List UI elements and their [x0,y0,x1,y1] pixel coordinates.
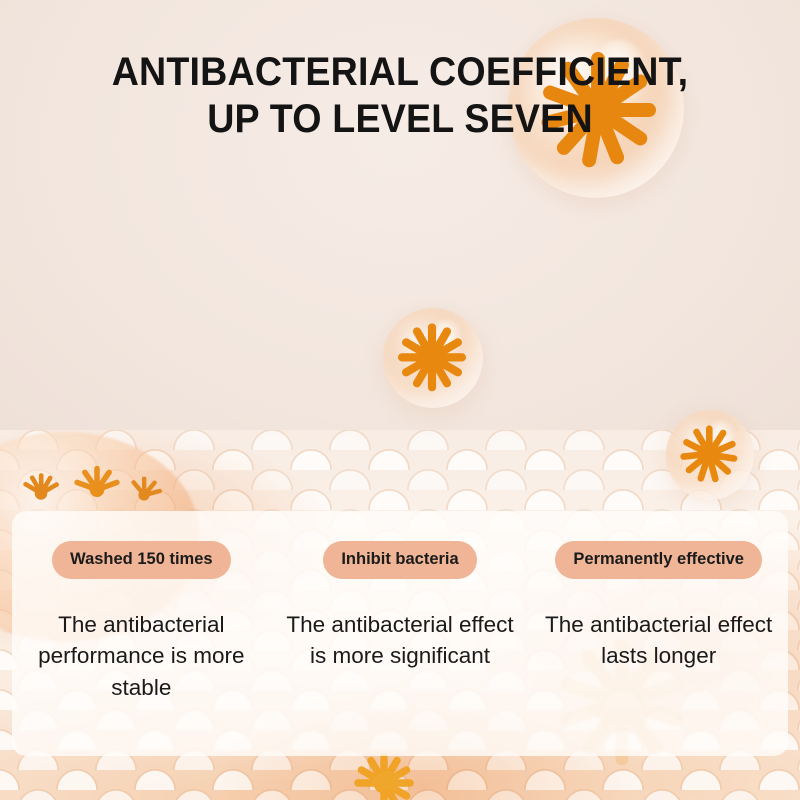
feature-card-2: Inhibit bacteria The antibacterial effec… [271,541,530,756]
bubble-small [666,410,754,500]
status-badge: Washed 150 times [52,541,230,579]
headline-line-1: ANTIBACTERIAL COEFFICIENT, [24,49,776,96]
feature-card-1: Washed 150 times The antibacterial perfo… [12,541,271,756]
headline-line-2: UP TO LEVEL SEVEN [24,96,776,143]
bubble-highlight [706,421,736,457]
bubble-highlight [429,320,463,360]
page-title: ANTIBACTERIAL COEFFICIENT, UP TO LEVEL S… [24,49,776,143]
poster-root: ANTIBACTERIAL COEFFICIENT, UP TO LEVEL S… [0,0,800,800]
feature-card-3: Permanently effective The antibacterial … [529,541,788,756]
status-badge: Permanently effective [555,541,762,579]
feature-description: The antibacterial effect lasts longer [544,609,774,673]
status-badge: Inhibit bacteria [323,541,476,579]
feature-description: The antibacterial performance is more st… [26,609,256,705]
feature-panel: Washed 150 times The antibacterial perfo… [12,511,788,756]
feature-description: The antibacterial effect is more signifi… [285,609,515,673]
bubble-medium [383,308,483,408]
